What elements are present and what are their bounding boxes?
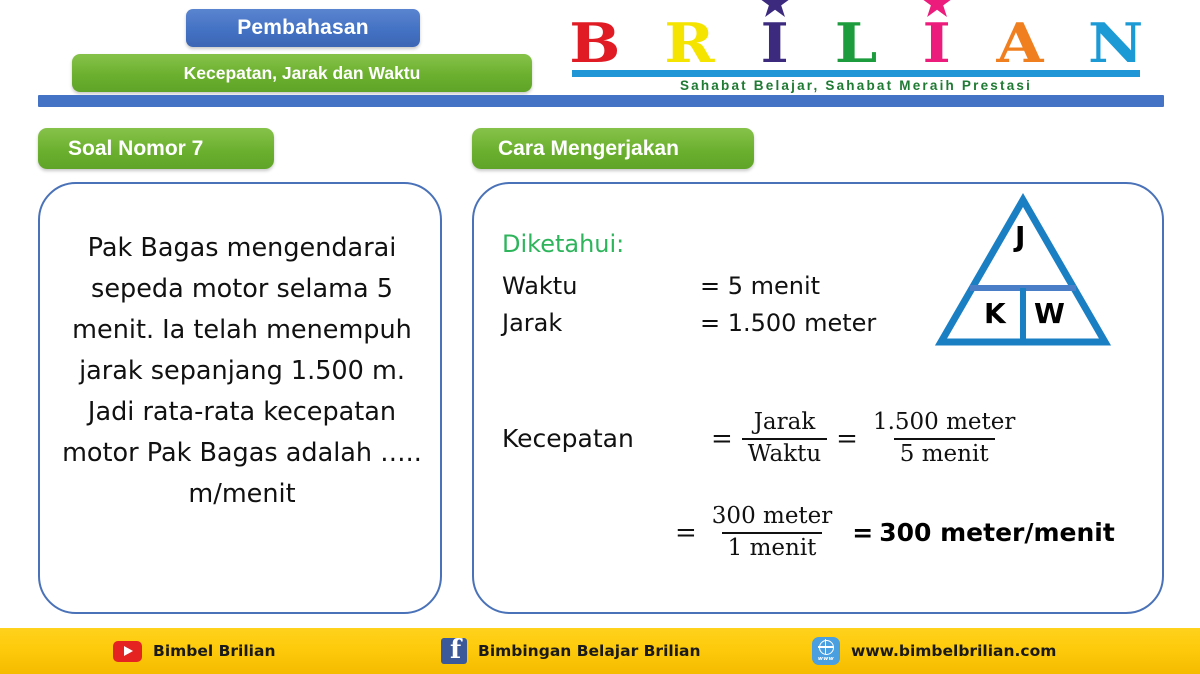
globe-shape-icon xyxy=(819,640,834,655)
www-label-icon: www xyxy=(818,656,834,662)
equals-sign-3: = xyxy=(675,518,697,548)
footer-label-youtube: Bimbel Brilian xyxy=(153,642,276,660)
equals-sign-2: = xyxy=(836,424,858,454)
logo-letter-a: A xyxy=(997,16,1044,70)
known-label-jarak: Jarak xyxy=(502,309,562,337)
triangle-letter-kecepatan: K xyxy=(984,297,1006,330)
footer-item-facebook[interactable]: Bimbingan Belajar Brilian xyxy=(441,638,701,664)
formula-result-row: = 300 meter 1 menit = 300 meter/menit xyxy=(666,504,1115,562)
logo-letter-i-second-glyph: I xyxy=(923,11,951,75)
youtube-icon[interactable] xyxy=(113,641,142,662)
logo-letter-r: R xyxy=(665,16,715,70)
website-globe-icon[interactable]: www xyxy=(812,637,840,665)
jkw-triangle-diagram: J K W xyxy=(934,192,1112,350)
logo-letter-n: N xyxy=(1088,16,1143,70)
brilian-logo: B R I L I A N Sahabat Belajar, Sahabat M… xyxy=(558,6,1154,94)
badge-soal-nomor: Soal Nomor 7 xyxy=(38,128,274,169)
badge-cara-mengerjakan: Cara Mengerjakan xyxy=(472,128,754,169)
facebook-icon[interactable] xyxy=(441,638,467,664)
solution-panel: Diketahui: Waktu = 5 menit Jarak = 1.500… xyxy=(472,182,1164,614)
equals-sign-1: = xyxy=(711,424,733,454)
logo-letter-i-first: I xyxy=(760,16,788,70)
formula-label-kecepatan: Kecepatan xyxy=(502,424,702,453)
logo-underline-rule xyxy=(572,70,1140,77)
fraction-denominator-1-menit: 1 menit xyxy=(722,532,823,562)
final-answer: 300 meter/menit xyxy=(879,518,1115,547)
fraction-300-1: 300 meter 1 menit xyxy=(706,504,838,562)
equals-sign-4: = xyxy=(852,518,873,547)
known-label-waktu: Waktu xyxy=(502,272,577,300)
logo-letter-b: B xyxy=(569,16,620,70)
footer-bar: Bimbel Brilian Bimbingan Belajar Brilian… xyxy=(0,628,1200,674)
fraction-1500-5: 1.500 meter 5 menit xyxy=(867,410,1021,468)
question-text: Pak Bagas mengendarai sepeda motor selam… xyxy=(58,228,426,515)
footer-label-website: www.bimbelbrilian.com xyxy=(851,642,1056,660)
formula-main-row: Kecepatan = Jarak Waktu = 1.500 meter 5 … xyxy=(502,410,1021,468)
fraction-denominator-5-menit: 5 menit xyxy=(894,438,995,468)
logo-letter-l: L xyxy=(834,16,877,70)
fraction-jarak-waktu: Jarak Waktu xyxy=(742,410,827,468)
question-panel: Pak Bagas mengendarai sepeda motor selam… xyxy=(38,182,442,614)
triangle-letter-waktu: W xyxy=(1034,297,1065,330)
footer-label-facebook: Bimbingan Belajar Brilian xyxy=(478,642,701,660)
fraction-denominator-waktu: Waktu xyxy=(742,438,827,468)
badge-pembahasan: Pembahasan xyxy=(186,9,420,47)
triangle-letter-jarak: J xyxy=(1015,220,1025,253)
fraction-numerator-300-meter: 300 meter xyxy=(706,504,838,532)
diketahui-label: Diketahui: xyxy=(502,230,624,258)
slide-root: Pembahasan Kecepatan, Jarak dan Waktu B … xyxy=(0,0,1200,674)
fraction-numerator-jarak: Jarak xyxy=(748,410,822,438)
known-value-jarak: = 1.500 meter xyxy=(700,309,876,337)
header-divider-bar xyxy=(38,95,1164,107)
play-triangle-icon xyxy=(124,646,133,656)
badge-topic-subtitle: Kecepatan, Jarak dan Waktu xyxy=(72,54,532,92)
logo-tagline: Sahabat Belajar, Sahabat Meraih Prestasi xyxy=(558,78,1154,93)
fraction-numerator-1500-meter: 1.500 meter xyxy=(867,410,1021,438)
footer-item-website[interactable]: www www.bimbelbrilian.com xyxy=(812,637,1056,665)
footer-item-youtube[interactable]: Bimbel Brilian xyxy=(113,641,276,662)
logo-letters: B R I L I A N xyxy=(558,8,1154,70)
logo-letter-i-second: I xyxy=(923,16,951,70)
logo-letter-i-first-glyph: I xyxy=(760,11,788,75)
known-value-waktu: = 5 menit xyxy=(700,272,820,300)
triangle-icon xyxy=(934,192,1112,350)
